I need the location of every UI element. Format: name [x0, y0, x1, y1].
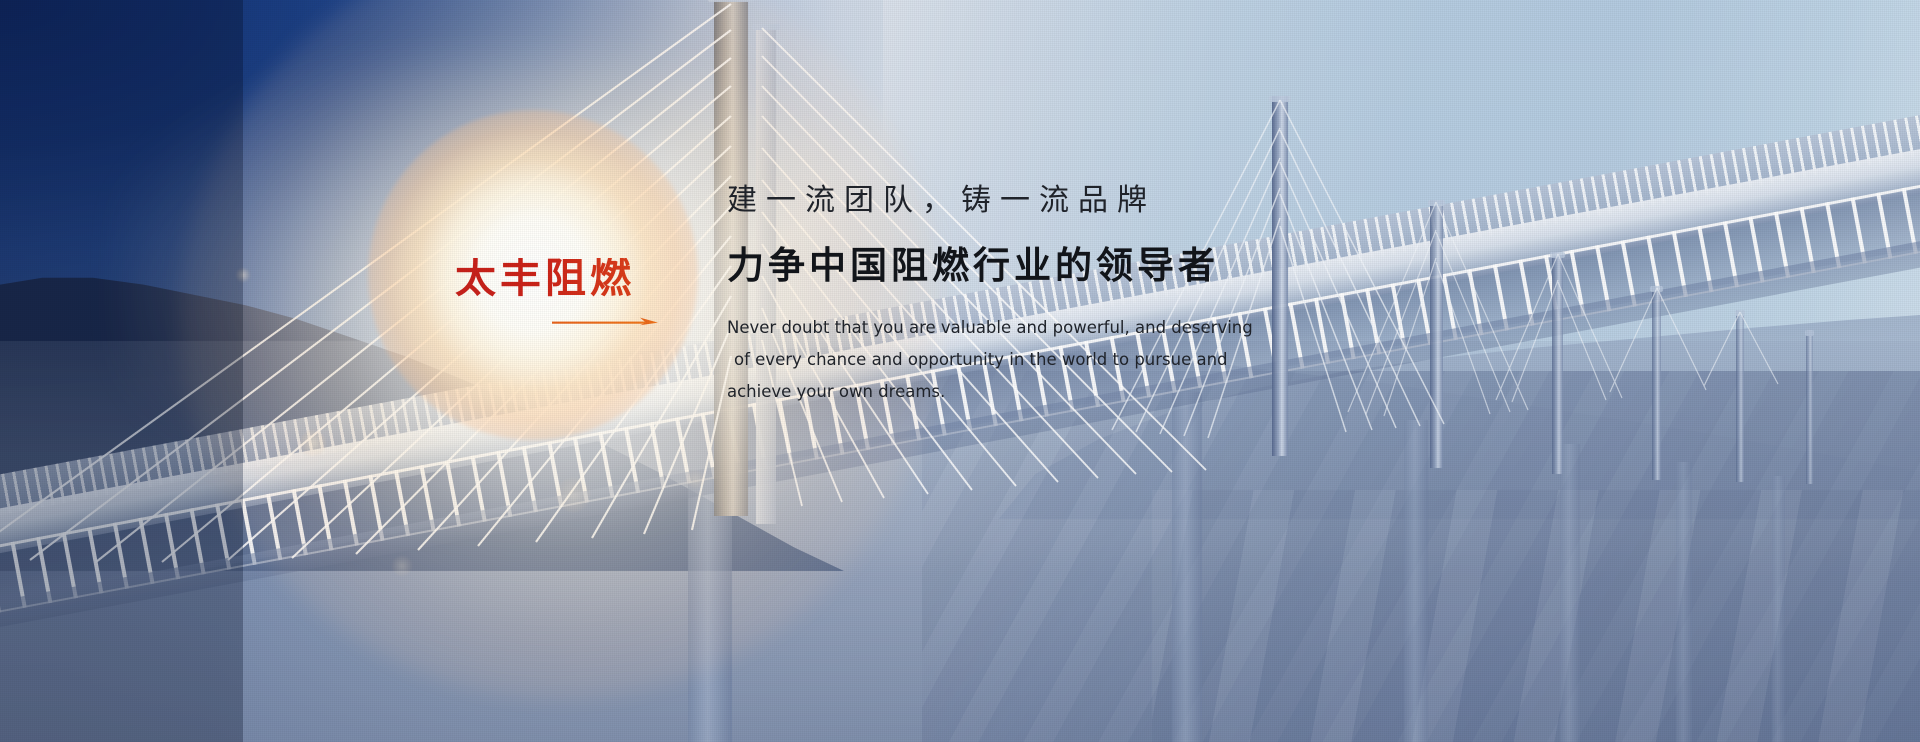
lede-paragraph: Never doubt that you are valuable and po…	[727, 312, 1197, 409]
headline-subtitle: 建一流团队，铸一流品牌	[727, 183, 1367, 220]
lede-line-3: achieve your own dreams.	[727, 376, 1197, 408]
brand-logo-text: 太丰阻燃	[455, 258, 670, 299]
arrow-right-icon	[552, 316, 660, 330]
brand-logo[interactable]: 太丰阻燃	[455, 258, 670, 299]
headline-title: 力争中国阻燃行业的领导者	[727, 244, 1367, 288]
hero-banner: 太丰阻燃 建一流团队，铸一流品牌 力争中国阻燃行业的领导者 Never doub…	[0, 0, 1920, 742]
lede-line-2: of every chance and opportunity in the w…	[727, 344, 1197, 376]
banner-copy: 建一流团队，铸一流品牌 力争中国阻燃行业的领导者 Never doubt tha…	[727, 183, 1367, 409]
lede-line-1: Never doubt that you are valuable and po…	[727, 312, 1197, 344]
banner-content: 太丰阻燃 建一流团队，铸一流品牌 力争中国阻燃行业的领导者 Never doub…	[0, 0, 1920, 742]
